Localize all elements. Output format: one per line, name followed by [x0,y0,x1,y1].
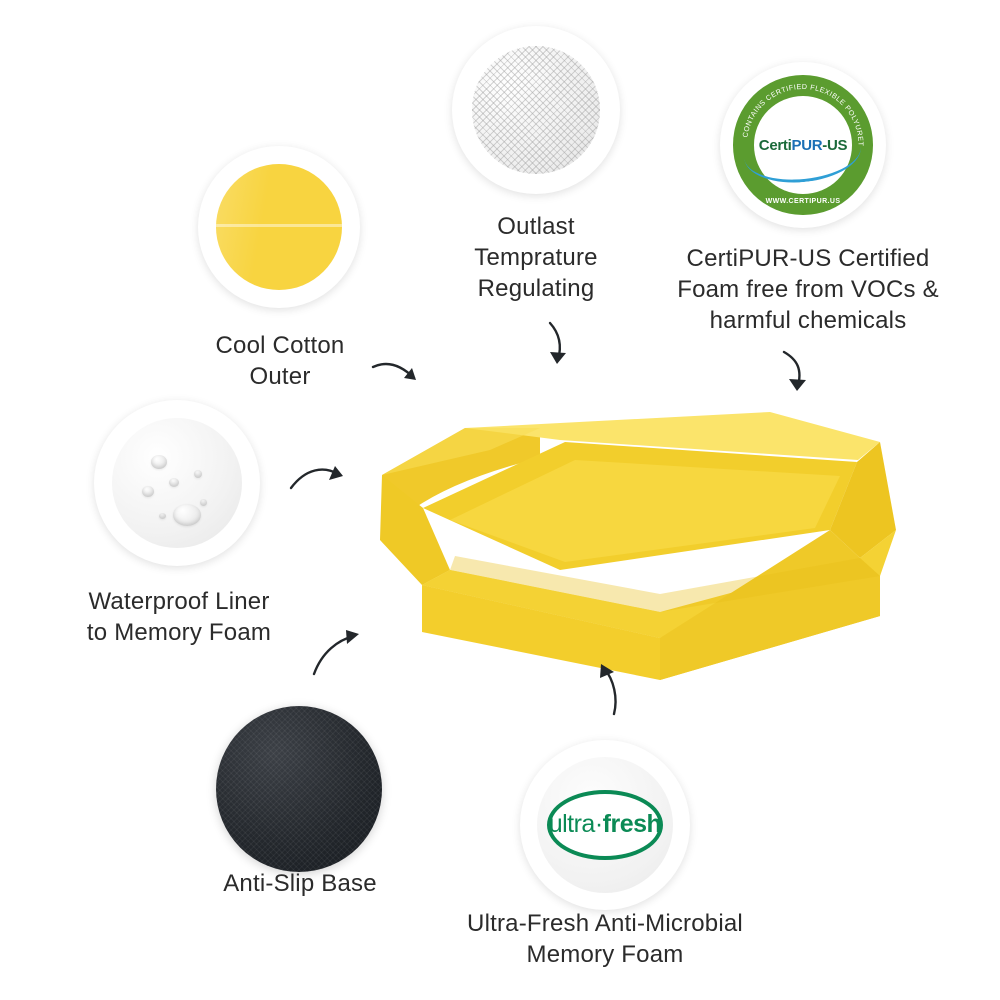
arrow-ultra-fresh [596,662,636,718]
certipur-ring: CONTAINS CERTIFIED FLEXIBLE POLYURETHANE… [733,75,872,214]
label-ultra-fresh-anti-microbial: Ultra-Fresh Anti-Microbial Memory Foam [420,908,790,970]
mesh-fabric-texture [472,46,600,174]
water-droplet-icon [159,513,166,519]
swatch-outlast-mesh [452,26,620,194]
swatch-anti-slip-base [216,706,382,872]
arrow-certipur [780,348,826,402]
feature-callout-image: CONTAINS CERTIFIED FLEXIBLE POLYURETHANE… [0,0,1000,1000]
dog-bed-illustration [360,380,900,680]
swatch-ultra-fresh: ultra·fresh [520,740,690,910]
label-cool-cotton-outer: Cool Cotton Outer [160,330,400,392]
water-droplet-icon [151,455,167,469]
swatch-waterproof-liner [94,400,260,566]
ultra-fresh-disc: ultra·fresh [537,757,673,893]
water-droplet-icon [200,499,207,506]
arrow-waterproof-liner [288,462,352,502]
ultra-fresh-separator: · [595,810,603,838]
water-droplet-icon [169,478,179,487]
cotton-fabric-texture [216,164,342,290]
label-anti-slip-base: Anti-Slip Base [180,868,420,899]
water-droplet-icon [194,470,202,478]
swatch-cool-cotton-outer [198,146,360,308]
waterproof-liner-texture [112,418,241,547]
arrow-outlast [540,320,580,376]
ultra-fresh-logo: ultra·fresh [547,790,664,861]
certipur-us-badge: CONTAINS CERTIFIED FLEXIBLE POLYURETHANE… [720,62,886,228]
ultra-text: ultra [549,810,595,838]
ultra-fresh-wordmark: ultra·fresh [549,810,662,839]
water-droplet-icon [173,504,201,526]
label-waterproof-liner: Waterproof Liner to Memory Foam [34,586,324,648]
fresh-text: fresh [603,810,662,838]
water-droplet-icon [142,486,154,497]
label-outlast-temperature-regulating: Outlast Temprature Regulating [416,211,656,304]
label-certipur-us-certified: CertiPUR-US Certified Foam free from VOC… [660,243,956,336]
certipur-url: WWW.CERTIPUR.US [733,198,872,205]
